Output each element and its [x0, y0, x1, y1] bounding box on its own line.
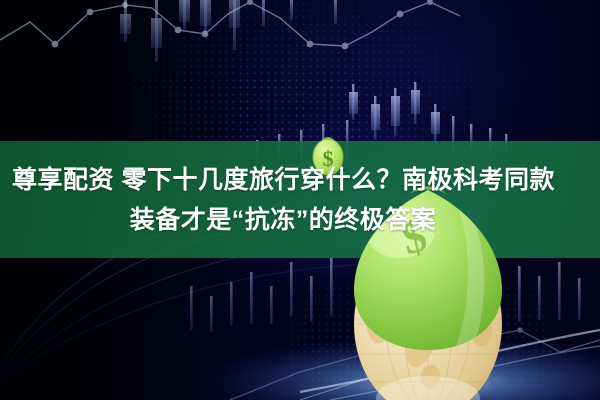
banner-image: $ $ 尊享配资 零下十几度旅行穿什么？南极科考同款 装备才是“抗冻”的终极答案: [0, 0, 600, 400]
headline-line-2: 装备才是“抗冻”的终极答案: [0, 200, 600, 240]
headline-line-1: 尊享配资 零下十几度旅行穿什么？南极科考同款: [0, 160, 600, 200]
headline-block: 尊享配资 零下十几度旅行穿什么？南极科考同款 装备才是“抗冻”的终极答案: [0, 141, 600, 258]
